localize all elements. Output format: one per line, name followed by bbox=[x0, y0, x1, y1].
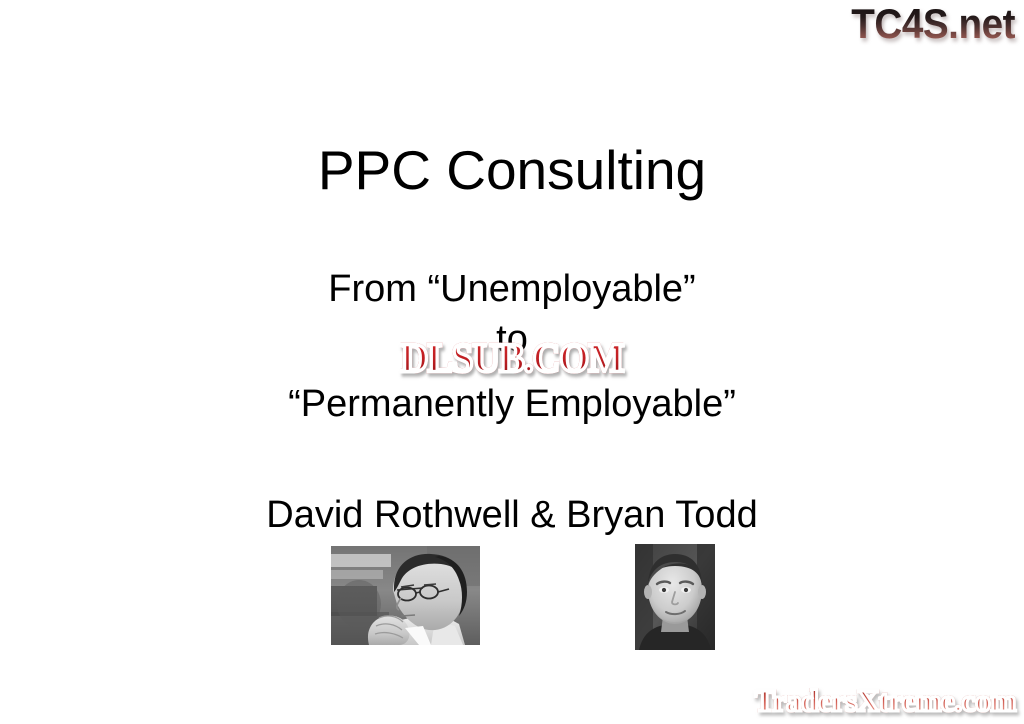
tradersxtreme-com-watermark: TradersXtreme.com bbox=[755, 684, 1016, 718]
presenters-byline: David Rothwell & Bryan Todd bbox=[0, 493, 1024, 537]
tradersxtreme-com-watermark-text: TradersXtreme.com bbox=[755, 684, 1016, 718]
tc4s-net-logo-watermark: TC4S.net bbox=[851, 2, 1015, 46]
bryan-todd-photo bbox=[635, 544, 715, 650]
dlsub-com-watermark-text: DLSUB.COM bbox=[401, 338, 624, 379]
dlsub-com-watermark: DLSUB.COM bbox=[396, 338, 628, 378]
slide-subtitle-line-1: From “Unemployable” bbox=[0, 267, 1024, 311]
presentation-slide: TC4S.net PPC Consulting From “Unemployab… bbox=[0, 0, 1024, 724]
david-rothwell-photo-graphic bbox=[331, 546, 480, 645]
david-rothwell-photo bbox=[331, 546, 480, 645]
slide-subtitle-line-3: “Permanently Employable” bbox=[0, 382, 1024, 426]
slide-title: PPC Consulting bbox=[0, 139, 1024, 201]
bryan-todd-photo-graphic bbox=[635, 544, 715, 650]
